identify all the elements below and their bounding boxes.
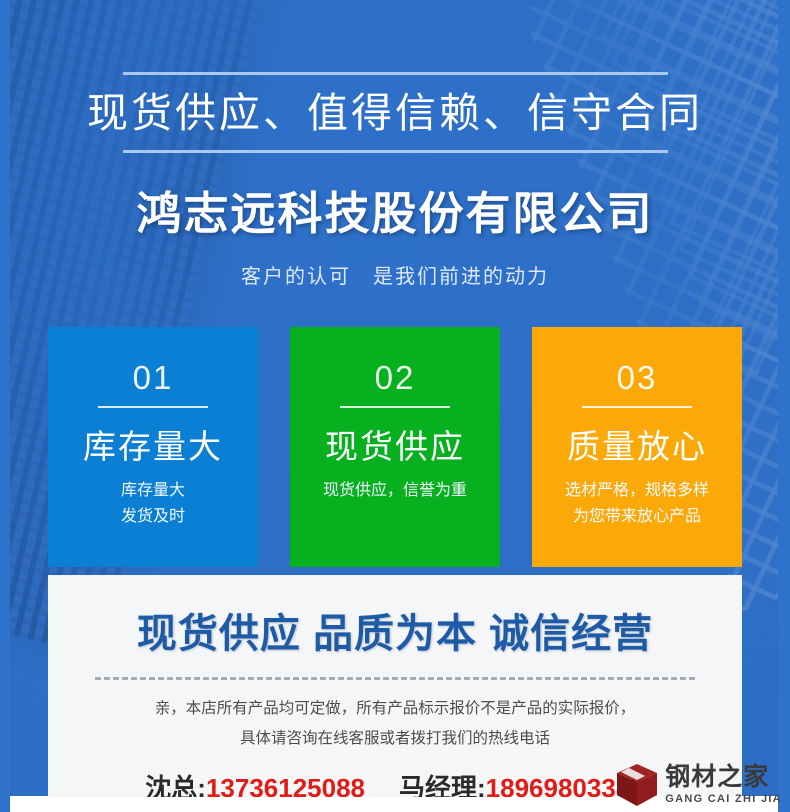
feature-card-title: 库存量大: [48, 408, 258, 468]
feature-card-description: 库存量大 发货及时: [48, 468, 258, 531]
feature-card-02[interactable]: 02 现货供应 现货供应，信誉为重: [290, 327, 500, 567]
watermark-brand-cn: 钢材之家: [665, 763, 769, 791]
promo-banner: 现货供应、值得信赖、信守合同 鸿志远科技股份有限公司 客户的认可 是我们前进的动…: [0, 0, 790, 812]
hero-headline: 现货供应、值得信赖、信守合同: [0, 75, 790, 150]
feature-card-03[interactable]: 03 质量放心 选材严格，规格多样 为您带来放心产品: [532, 327, 742, 567]
panel-dashed-divider: [95, 677, 695, 680]
right-blue-edge: [778, 0, 790, 812]
feature-card-number: 03: [532, 361, 742, 394]
panel-body-line: 具体请咨询在线客服或者拨打我们的热线电话: [48, 724, 742, 754]
feature-card-title: 现货供应: [290, 408, 500, 468]
hero-section: 现货供应、值得信赖、信守合同 鸿志远科技股份有限公司 客户的认可 是我们前进的动…: [0, 72, 790, 289]
panel-body-line: 亲，本店所有产品均可定做，所有产品标示报价不是产品的实际报价，: [48, 694, 742, 724]
watermark-text: 钢材之家 GANG CAI ZHI JIA: [665, 765, 782, 805]
feature-card-description-line: 库存量大: [48, 478, 258, 504]
company-name: 鸿志远科技股份有限公司: [0, 153, 790, 242]
feature-card-01[interactable]: 01 库存量大 库存量大 发货及时: [48, 327, 258, 567]
contact-label: 沈总:: [145, 773, 206, 797]
cube-box-icon: [615, 762, 659, 808]
feature-card-description: 现货供应，信誉为重: [290, 468, 500, 504]
feature-card-title: 质量放心: [532, 408, 742, 468]
watermark: 钢材之家 GANG CAI ZHI JIA: [615, 762, 782, 808]
feature-card-description: 选材严格，规格多样 为您带来放心产品: [532, 468, 742, 531]
contact-shen[interactable]: 沈总:13736125088: [145, 768, 365, 797]
watermark-brand-en: GANG CAI ZHI JIA: [665, 790, 782, 805]
feature-card-description-line: 现货供应，信誉为重: [290, 478, 500, 504]
feature-cards: 01 库存量大 库存量大 发货及时 02 现货供应 现货供应，信誉为重 03 质…: [48, 327, 742, 567]
contact-label: 马经理:: [399, 773, 486, 797]
feature-card-description-line: 发货及时: [48, 504, 258, 530]
panel-body-text: 亲，本店所有产品均可定做，所有产品标示报价不是产品的实际报价， 具体请咨询在线客…: [48, 680, 742, 754]
feature-card-description-line: 选材严格，规格多样: [532, 478, 742, 504]
feature-card-number: 01: [48, 361, 258, 394]
contact-ma[interactable]: 马经理:18969803385: [399, 768, 645, 797]
feature-card-number: 02: [290, 361, 500, 394]
panel-heading: 现货供应 品质为本 诚信经营: [48, 575, 742, 659]
contact-phone-number[interactable]: 13736125088: [206, 773, 365, 797]
feature-card-description-line: 为您带来放心产品: [532, 504, 742, 530]
company-tagline: 客户的认可 是我们前进的动力: [0, 242, 790, 289]
left-blue-edge: [0, 0, 10, 812]
